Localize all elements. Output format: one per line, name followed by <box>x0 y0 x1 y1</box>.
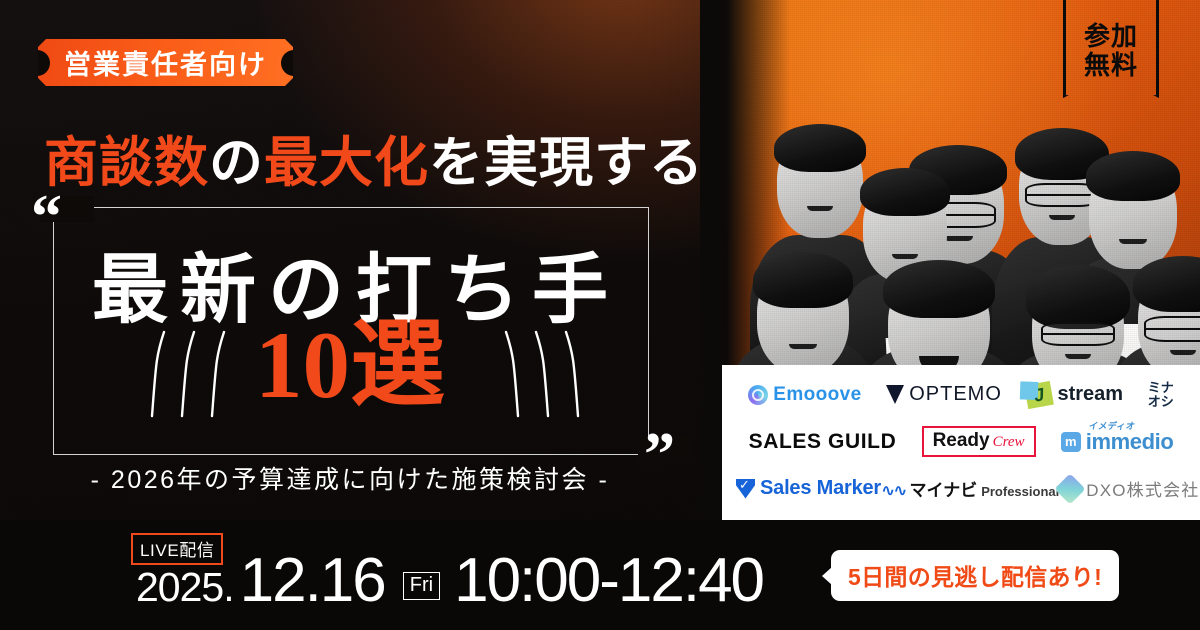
mynavi-kana: マイナビ <box>910 476 978 501</box>
optemo-icon <box>886 385 904 404</box>
minaoshi-line-1: ミナ <box>1148 381 1174 394</box>
jstream-icon: J <box>1025 380 1055 408</box>
logo-immedio: m イメディオ immedio <box>1061 429 1174 455</box>
mynavi-icon: ∿∿ <box>881 481 906 501</box>
audience-tag: 営業責任者向け <box>38 39 293 86</box>
logo-minaoshi: ミナ オシ <box>1148 381 1174 408</box>
headline-part-4: を実現する <box>429 133 704 193</box>
schedule-month-day: 12.16 <box>240 545 385 616</box>
count-unit: 選 <box>350 312 445 418</box>
headline-part-2: の <box>209 133 264 193</box>
headline: 商談数の最大化を実現する <box>44 118 694 197</box>
sales-guild-wordmark: SALES GUILD <box>749 430 897 454</box>
schedule-day-of-week: Fri <box>403 572 440 600</box>
dxo-wordmark: DXO株式会社 <box>1086 476 1199 501</box>
schedule-time: 10:00-12:40 <box>454 545 763 616</box>
schedule-year: 2025. <box>136 564 234 611</box>
webinar-banner: OPTEMO <box>0 0 1200 630</box>
sponsor-logo-row: Emooove OPTEMO J stream ミナ オシ <box>736 371 1186 418</box>
free-entry-ribbon-text: 参加 無料 <box>1063 4 1159 99</box>
immedio-wordmark: immedio <box>1086 429 1174 455</box>
mynavi-professional-label: Professional <box>981 484 1059 499</box>
logo-dxo: DXO株式会社 <box>1059 476 1199 501</box>
optemo-wordmark: OPTEMO <box>909 383 1002 406</box>
logo-emooove: Emooove <box>748 384 861 406</box>
logo-optemo: OPTEMO <box>886 383 1002 406</box>
replay-availability-bubble: 5日間の見逃し配信あり! <box>831 550 1119 601</box>
ready-crew-wordmark: Ready <box>933 430 990 452</box>
logo-ready-crew: Ready Crew <box>922 426 1036 457</box>
logo-sales-marker: Sales Marker <box>736 477 881 500</box>
headline-part-3: 最大化 <box>264 133 429 193</box>
dxo-icon <box>1055 473 1086 504</box>
sales-marker-icon <box>736 479 755 499</box>
count-line: 10選 <box>0 318 700 413</box>
jstream-icon-letter: J <box>1033 383 1047 405</box>
logo-sales-guild: SALES GUILD <box>749 430 897 454</box>
ready-crew-script: Crew <box>993 434 1025 451</box>
minaoshi-wordmark: ミナ オシ <box>1148 381 1174 408</box>
sales-marker-wordmark: Sales Marker <box>760 477 881 500</box>
schedule-datetime: 2025. 12.16 Fri 10:00-12:40 <box>136 545 763 616</box>
ribbon-line-1: 参加 <box>1084 23 1138 51</box>
immedio-icon: m <box>1061 432 1081 452</box>
sponsor-logo-row: Sales Marker ∿∿ マイナビ Professional DXO株式会… <box>736 465 1186 512</box>
headline-part-1: 商談数 <box>44 133 209 193</box>
logo-mynavi-professional: ∿∿ マイナビ Professional <box>881 476 1059 501</box>
emooove-icon <box>748 385 768 405</box>
audience-tag-label: 営業責任者向け <box>64 43 267 82</box>
chevron-right-decoration <box>496 326 592 422</box>
sponsor-logo-panel: Emooove OPTEMO J stream ミナ オシ SALES GUIL… <box>722 365 1200 520</box>
immedio-kana: イメディオ <box>1088 419 1137 432</box>
emooove-wordmark: Emooove <box>773 384 861 406</box>
event-subtitle: - 2026年の予算達成に向けた施策検討会 - <box>0 460 700 496</box>
ribbon-line-2: 無料 <box>1084 52 1138 80</box>
jstream-wordmark: stream <box>1057 383 1123 406</box>
minaoshi-line-2: オシ <box>1148 395 1174 408</box>
sponsor-logo-row: SALES GUILD Ready Crew m イメディオ immedio <box>736 418 1186 465</box>
logo-jstream: J stream <box>1026 383 1123 407</box>
count-number: 10 <box>255 312 350 418</box>
